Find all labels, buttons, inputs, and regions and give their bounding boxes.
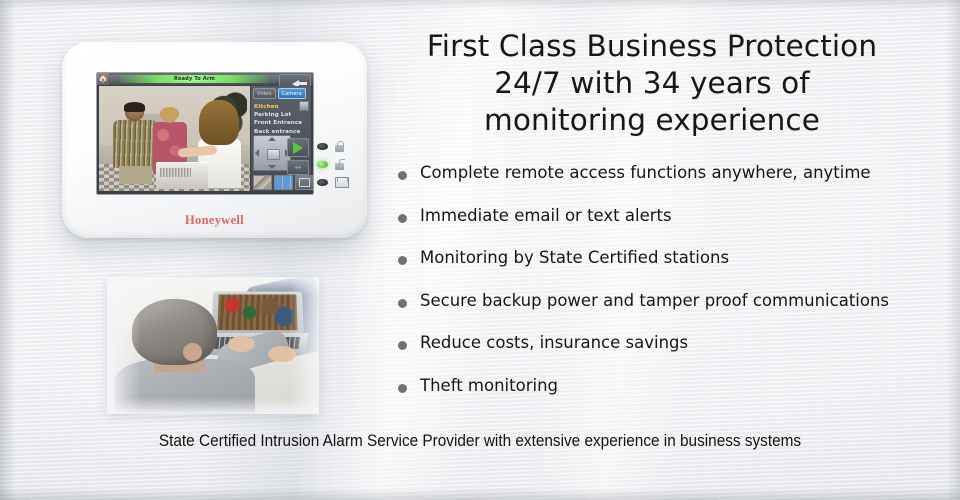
bullet-dot-icon [398,299,407,308]
ptz-left-icon [255,149,259,157]
bullet-dot-icon [398,341,407,350]
list-item: Monitoring by State Certified stations [398,248,954,291]
photo-ear [183,343,202,361]
bullet-text: Reduce costs, insurance savings [420,333,688,353]
camera-list: Kitchen Parking Lot Front Entrance Back … [254,103,308,136]
led-row-message [317,173,349,191]
photo-laptop-screen [217,294,297,330]
panel-gloss-highlight [72,45,331,49]
photo-head [132,299,217,365]
thumbnail-button-1[interactable] [253,175,272,190]
panel-indicator-leds [317,137,349,191]
feed-person-man [113,104,158,184]
tab-video[interactable]: Video [253,88,276,99]
bottom-edge-shading [0,488,960,500]
ptz-center-button[interactable] [267,149,280,160]
bullet-text: Theft monitoring [420,376,558,396]
bullet-text: Monitoring by State Certified stations [420,248,729,268]
lock-icon [335,141,344,152]
feed-mode-tabs: Video Camera [253,88,306,99]
home-icon[interactable]: 🏠 [97,73,109,85]
tab-camera[interactable]: Camera [278,88,306,99]
title-line-3: monitoring experience [382,102,922,139]
status-bar: Ready To Arm [110,75,279,83]
play-icon [293,142,303,154]
feed-cash-register [156,162,207,189]
feature-bullet-list: Complete remote access functions anywher… [398,163,954,418]
list-item: Immediate email or text alerts [398,206,954,249]
list-item: Secure backup power and tamper proof com… [398,291,954,334]
bullet-text: Immediate email or text alerts [420,206,672,226]
led-row-ready [317,155,349,173]
zoom-button[interactable]: ↔ [287,160,309,175]
remote-viewing-photo [107,277,319,414]
list-item: Reduce costs, insurance savings [398,333,954,376]
bullet-dot-icon [398,256,407,265]
title-line-2: 24/7 with 34 years of [382,65,922,102]
thumbnail-button-2[interactable] [274,175,293,190]
list-item: Theft monitoring [398,376,954,419]
camera-list-item-kitchen[interactable]: Kitchen [254,103,308,111]
envelope-icon [335,177,349,188]
led-ready [317,161,328,168]
photo-laptop-camera-feed [217,294,297,330]
screen-control-column: Video Camera Kitchen Parking Lot Front E… [251,86,311,191]
camera-thumbnail-row [253,175,314,190]
led-message [317,179,328,186]
bullet-dot-icon [398,214,407,223]
play-button[interactable] [287,138,309,157]
list-item: Complete remote access functions anywher… [398,163,954,206]
photo-hand-right [268,346,296,362]
screen-status-row: 🏠 Ready To Arm [97,73,313,85]
led-armed [317,143,328,150]
title-line-1: First Class Business Protection [382,28,922,65]
led-row-armed [317,137,349,155]
honeywell-logo: Honeywell [62,213,367,228]
thumbnail-button-3[interactable] [295,175,314,190]
unlock-icon [335,159,344,170]
ptz-directional-pad[interactable] [253,135,291,171]
left-right-arrows-icon: ↔ [295,164,302,172]
live-camera-video-feed[interactable] [99,86,250,191]
bullet-dot-icon [398,171,407,180]
status-text: Ready To Arm [174,76,215,82]
page-title: First Class Business Protection 24/7 wit… [382,28,922,139]
top-edge-shading [0,0,960,10]
slide-canvas: 🏠 Ready To Arm [0,0,960,500]
panel-touchscreen[interactable]: 🏠 Ready To Arm [96,72,314,195]
footer-caption: State Certified Intrusion Alarm Service … [34,432,927,451]
bullet-text: Complete remote access functions anywher… [420,163,871,183]
photo-laptop-lid [212,291,303,335]
ptz-down-icon [268,165,276,169]
bullet-text: Secure backup power and tamper proof com… [420,291,889,311]
bullet-dot-icon [398,384,407,393]
honeywell-control-panel: 🏠 Ready To Arm [62,42,367,238]
camera-list-item-front-entrance[interactable]: Front Entrance [254,119,308,127]
camera-list-item-parking-lot[interactable]: Parking Lot [254,111,308,119]
ptz-up-icon [268,137,276,141]
